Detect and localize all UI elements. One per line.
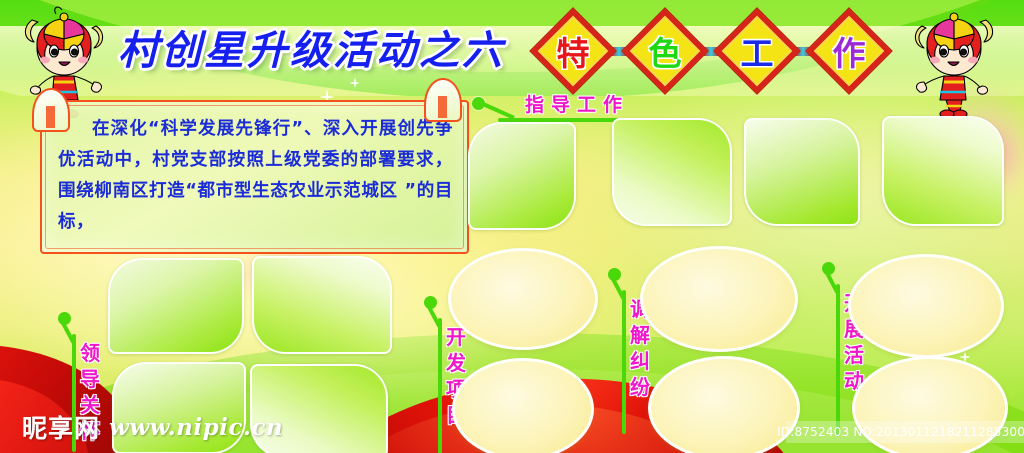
diamond-banner: 特 色 工 作 [536, 14, 886, 88]
photo-oval-1[interactable] [448, 248, 598, 350]
stem-line [836, 284, 840, 436]
diamond-char: 色 [628, 14, 702, 88]
diamond-char: 作 [812, 14, 886, 88]
poster-title: 村创星升级活动之六 [118, 18, 505, 76]
diamond-cell-0: 特 [536, 14, 610, 88]
intro-scroll-box: 在深化“科学发展先锋行”、深入开展创先争优活动中，村党支部按照上级党委的部署要求… [40, 100, 469, 254]
scroll-roll-notch [438, 96, 447, 118]
photo-oval-3[interactable] [640, 246, 798, 352]
diamond-cell-2: 工 [720, 14, 794, 88]
section-label-top-text: 指导工作 [525, 90, 629, 117]
scroll-roll-notch [46, 106, 55, 128]
stem-line [438, 318, 442, 453]
watermark-brand: 昵享网 [22, 409, 100, 445]
poster-canvas: 村创星升级活动之六 特 色 工 作 在深化“科学发展先锋行”、深入开展创先争优活… [0, 0, 1024, 453]
mascot-girl-right [908, 6, 1000, 118]
photo-frame-top-2[interactable] [612, 118, 732, 226]
section-label-top: 指导工作 [472, 90, 634, 122]
photo-frame-left-1[interactable] [108, 258, 244, 354]
stem-line [622, 290, 626, 434]
stem-line [482, 102, 515, 119]
intro-body-text: 在深化“科学发展先锋行”、深入开展创先争优活动中，村党支部按照上级党委的部署要求… [58, 114, 453, 238]
diamond-char: 特 [536, 14, 610, 88]
watermark-url: www.nipic.cn [109, 414, 283, 441]
photo-frame-top-3[interactable] [744, 118, 860, 226]
diamond-cell-1: 色 [628, 14, 702, 88]
photo-frame-top-1[interactable] [468, 122, 576, 230]
scroll-roll-right [424, 78, 462, 122]
image-id-text: ID:8752403 NO:20130112182112853000 [777, 425, 1024, 439]
scroll-roll-left [32, 88, 70, 132]
photo-oval-5[interactable] [848, 254, 1004, 358]
photo-frame-left-2[interactable] [252, 256, 392, 354]
diamond-cell-3: 作 [812, 14, 886, 88]
watermark: 昵享网 www.nipic.cn [22, 409, 283, 445]
photo-frame-top-4[interactable] [882, 116, 1004, 226]
photo-oval-2[interactable] [452, 358, 594, 453]
section-label-top-row: 指导工作 [472, 90, 629, 117]
diamond-char: 工 [720, 14, 794, 88]
image-id-bar: ID:8752403 NO:20130112182112853000 [786, 421, 1024, 443]
